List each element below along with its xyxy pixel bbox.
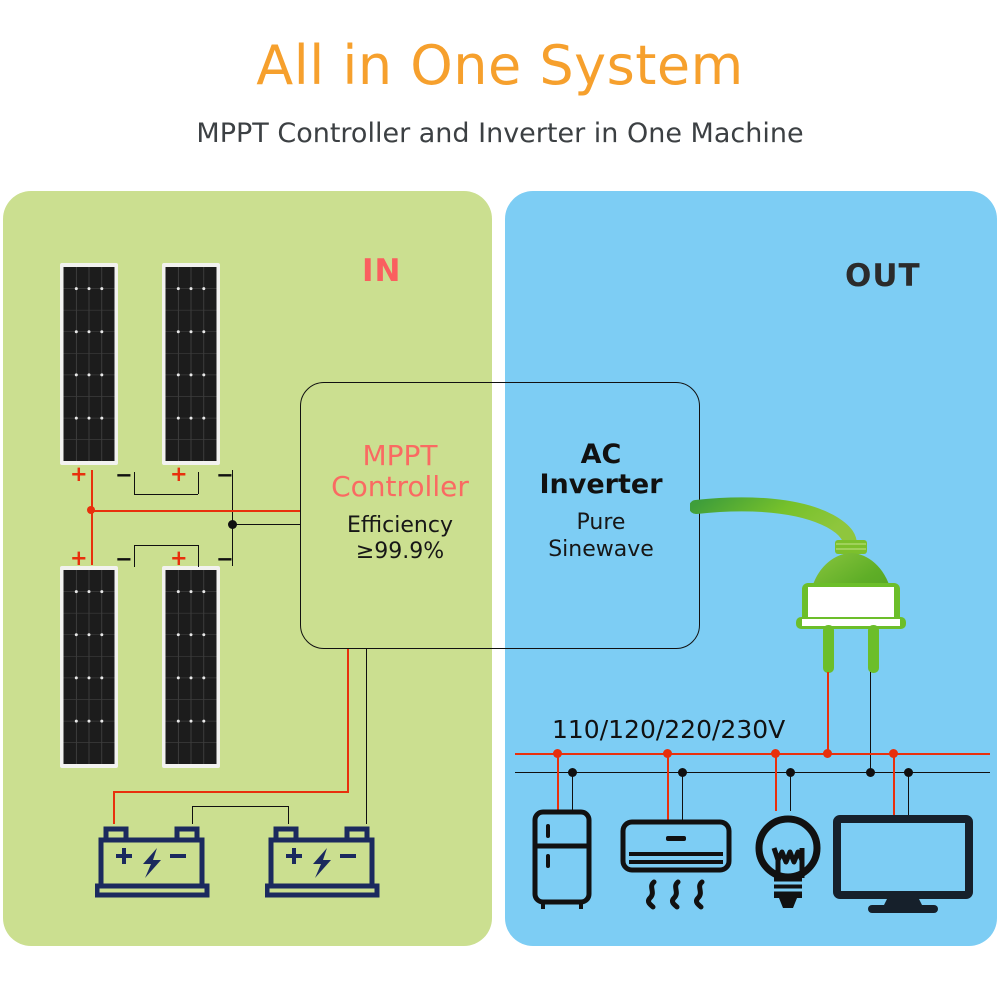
solar-panel-top-right-minus: − [216,465,234,486]
ac-power-plug [690,495,930,680]
mppt-efficiency-label: Efficiency [300,513,500,539]
solar-panel-bottom-right [162,566,220,768]
solar-panel-bottom-right-plus: + [170,548,188,569]
output-live-bus [515,753,990,755]
solar-panel-bottom-left-plus: + [70,548,88,569]
pv-positive-bus-to-controller [91,510,301,512]
pv-top-series-wire-bridge [134,494,198,495]
neutral-bus-dot-plug [866,768,875,777]
refrigerator-live-drop [557,753,559,810]
mppt-heading-line2: Controller [300,471,500,502]
light-bulb [752,808,824,913]
ac-inverter-block: AC Inverter Pure Sinewave [503,440,699,563]
live-bus-dot-plug [823,749,832,758]
inverter-heading-line1: AC [503,440,699,470]
refrigerator [528,808,596,913]
inverter-heading-line2: Inverter [503,470,699,500]
battery-negative-wire-vertical [366,649,367,824]
battery-series-wire-bridge [192,806,288,807]
air-conditioner-neutral-drop [682,772,683,821]
television [833,815,973,915]
inverter-heading: AC Inverter [503,440,699,500]
mppt-heading-line1: MPPT [300,440,500,471]
input-panel-label: IN [362,253,401,289]
solar-panel-bottom-left-minus: − [115,549,133,570]
air-conditioner-live-drop [667,753,669,821]
diagram-canvas: All in One System MPPT Controller and In… [0,0,1000,1000]
mppt-controller-block: MPPT Controller Efficiency ≥99.9% [300,440,500,566]
inverter-waveform-line1: Pure [503,510,699,536]
solar-panel-top-left-plus: + [70,464,88,485]
plug-neutral-wire [870,672,871,773]
solar-panel-bottom-right-minus: − [216,549,234,570]
output-neutral-bus [515,772,990,773]
output-panel-label: OUT [845,258,921,294]
mppt-efficiency: Efficiency ≥99.9% [300,513,500,566]
pv-negative-bus-to-controller [232,524,301,525]
inverter-waveform-line2: Sinewave [503,537,699,563]
pv-top-right-negative-wire [232,470,233,525]
refrigerator-neutral-drop [572,772,573,810]
television-live-drop [893,753,895,816]
light-bulb-live-drop [775,753,777,811]
solar-panel-top-left-minus: − [115,465,133,486]
pv-bottom-series-wire-right-leg [198,545,199,567]
battery-left [95,818,225,900]
pv-bottom-series-wire-left-leg [134,545,135,567]
pv-positive-junction-dot [87,506,95,514]
pv-top-series-wire-right-leg [198,472,199,494]
pv-bottom-right-negative-wire [232,524,233,566]
light-bulb-neutral-drop [790,772,791,811]
page-title: All in One System [0,36,1000,95]
solar-panel-top-left [60,263,118,465]
air-conditioner [618,818,734,916]
battery-right [265,818,395,900]
battery-positive-wire-vertical [347,649,349,792]
plug-live-wire [827,672,829,754]
solar-panel-bottom-left [60,566,118,768]
pv-bottom-series-wire-bridge [134,545,198,546]
mppt-heading: MPPT Controller [300,440,500,503]
pv-bottom-left-positive-wire [91,510,93,565]
mppt-efficiency-value: ≥99.9% [300,539,500,565]
output-voltage-label: 110/120/220/230V [552,715,785,744]
solar-panel-top-right-plus: + [170,464,188,485]
television-neutral-drop [908,772,909,816]
pv-negative-junction-dot [228,520,237,529]
solar-panel-top-right [162,263,220,465]
pv-top-series-wire-left-leg [134,472,135,494]
battery-positive-wire-horizontal [113,791,349,793]
page-subtitle: MPPT Controller and Inverter in One Mach… [0,118,1000,150]
inverter-waveform: Pure Sinewave [503,510,699,563]
